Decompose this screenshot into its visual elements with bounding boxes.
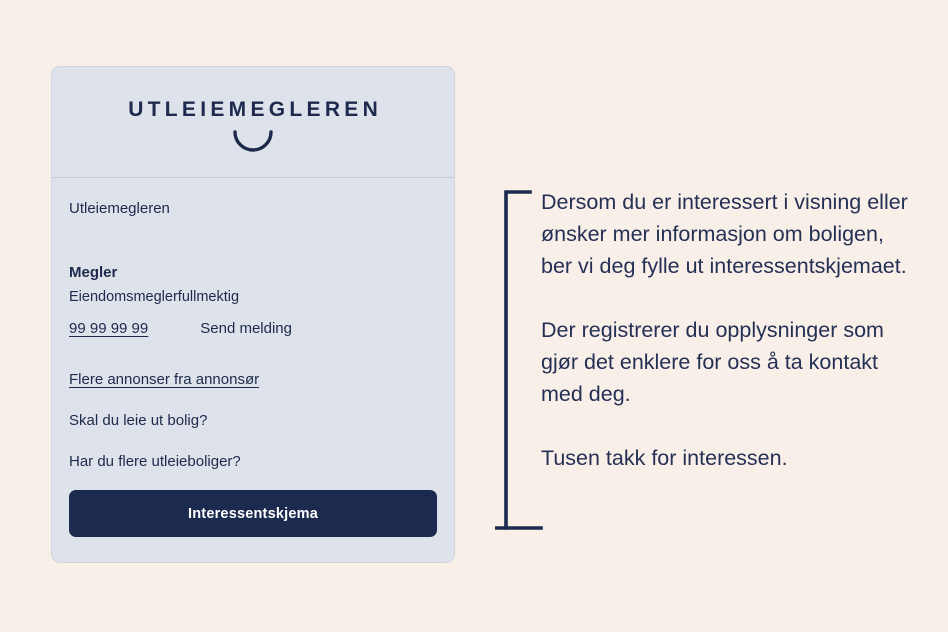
- agency-name: Utleiemegleren: [69, 200, 437, 218]
- rent-out-home-link[interactable]: Skal du leie ut bolig?: [69, 412, 437, 429]
- more-rental-homes-link[interactable]: Har du flere utleieboliger?: [69, 453, 437, 470]
- smile-arc-icon: [232, 130, 274, 152]
- more-ads-from-advertiser-link[interactable]: Flere annonser fra annonsør: [69, 371, 437, 388]
- advertiser-links-block: Flere annonser fra annonsør Skal du leie…: [69, 371, 437, 470]
- annotation-paragraph-3: Tusen takk for interessen.: [541, 442, 911, 474]
- broker-contact-card: UTLEIEMEGLEREN Utleiemegleren Megler Eie…: [51, 66, 455, 563]
- interessentskjema-button[interactable]: Interessentskjema: [69, 490, 437, 537]
- phone-number-link[interactable]: 99 99 99 99: [69, 320, 148, 337]
- page-root: UTLEIEMEGLEREN Utleiemegleren Megler Eie…: [0, 0, 948, 632]
- broker-role-label: Megler: [69, 264, 437, 283]
- send-message-link[interactable]: Send melding: [200, 320, 292, 337]
- utleiemegleren-logo-wordmark: UTLEIEMEGLEREN: [124, 99, 382, 120]
- annotation-paragraph-1: Dersom du er interessert i visning eller…: [541, 186, 911, 282]
- broker-title-label: Eiendomsmeglerfullmektig: [69, 288, 437, 306]
- annotation-paragraph-2: Der registrerer du opplysninger som gjør…: [541, 314, 911, 410]
- card-header: UTLEIEMEGLEREN: [52, 67, 454, 178]
- contact-row: 99 99 99 99 Send melding: [69, 320, 437, 337]
- annotation-text-block: Dersom du er interessert i visning eller…: [541, 186, 911, 474]
- card-body: Utleiemegleren Megler Eiendomsmeglerfull…: [52, 178, 454, 561]
- broker-info-block: Megler Eiendomsmeglerfullmektig 99 99 99…: [69, 264, 437, 337]
